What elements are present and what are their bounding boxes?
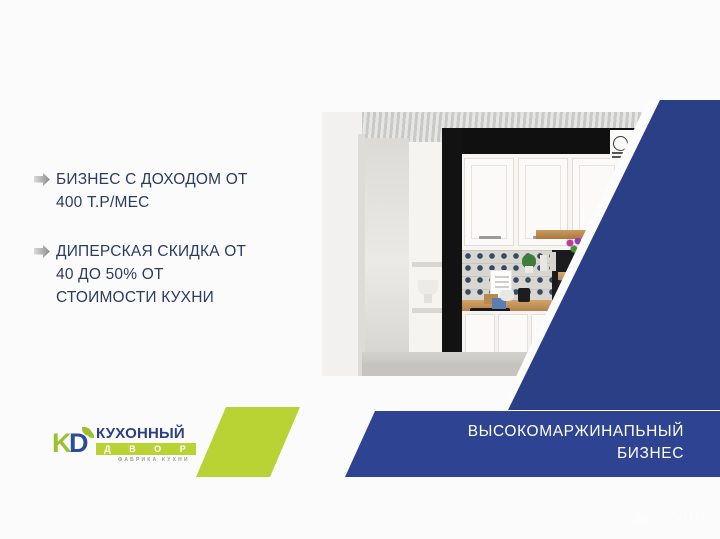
promo-slide: БИЗНЕС С ДОХОДОМ ОТ 400 Т.Р/МЕС ДИПЕРСКА… bbox=[0, 0, 720, 539]
photo-bar-leg bbox=[638, 280, 647, 338]
logo-letter-k: K bbox=[52, 428, 71, 458]
photo-kettle bbox=[500, 290, 514, 301]
logo-dvor-letter: О bbox=[154, 444, 163, 454]
photo-coffee-machine bbox=[518, 288, 530, 302]
list-item: ДИПЕРСКАЯ СКИДКА ОТ 40 ДО 50% ОТ СТОИМОС… bbox=[34, 240, 306, 309]
photo-cabinet-door bbox=[464, 158, 514, 246]
photo-poster-text bbox=[612, 152, 628, 154]
photo-jar bbox=[596, 258, 605, 272]
photo-cutting-board bbox=[610, 252, 614, 272]
list-item: БИЗНЕС С ДОХОДОМ ОТ 400 Т.Р/МЕС bbox=[34, 168, 306, 214]
arrow-bullet-icon bbox=[34, 173, 50, 186]
brand-logo[interactable]: K D КУХОННЫЙ Д В О Р ФАБРИКА КУХНИ bbox=[52, 424, 198, 468]
photo-vase bbox=[574, 250, 581, 272]
photo-doorway-wall bbox=[322, 112, 362, 376]
logo-monogram: K D bbox=[52, 428, 92, 458]
photo-back-room bbox=[365, 138, 409, 363]
photo-plant-pot bbox=[525, 266, 533, 273]
photo-wall-poster bbox=[610, 130, 647, 164]
photo-floor-front bbox=[362, 363, 647, 376]
arrow-bullet-icon bbox=[34, 245, 50, 258]
photo-back-shelf bbox=[412, 262, 444, 267]
photo-jar bbox=[540, 255, 547, 271]
bottom-blue-banner: ВЫСОКОМАРЖИНАПЬНЫЙ БИЗНЕС bbox=[345, 411, 720, 477]
photo-black-column bbox=[442, 128, 462, 376]
banner-headline: ВЫСОКОМАРЖИНАПЬНЫЙ БИЗНЕС bbox=[468, 421, 684, 465]
logo-dvor-letter: Д bbox=[104, 444, 112, 454]
avito-watermark: Avito bbox=[635, 504, 706, 527]
benefits-list: БИЗНЕС С ДОХОДОМ ОТ 400 Т.Р/МЕС ДИПЕРСКА… bbox=[34, 168, 306, 335]
photo-door-frame bbox=[358, 134, 365, 376]
photo-wood-shelf bbox=[536, 230, 647, 239]
list-item-text: БИЗНЕС С ДОХОДОМ ОТ 400 Т.Р/МЕС bbox=[56, 168, 248, 214]
green-parallelogram bbox=[196, 407, 300, 477]
logo-dvor-letter: Р bbox=[180, 444, 188, 454]
photo-glass-pane bbox=[631, 187, 644, 219]
photo-poster-badge-icon bbox=[613, 136, 628, 151]
photo-poster-badge-icon bbox=[629, 136, 644, 151]
list-item-text: ДИПЕРСКАЯ СКИДКА ОТ 40 ДО 50% ОТ СТОИМОС… bbox=[56, 240, 246, 309]
avito-dots-icon bbox=[635, 508, 655, 524]
logo-wordmark: КУХОННЫЙ bbox=[96, 426, 185, 442]
photo-back-object bbox=[418, 280, 438, 296]
kitchen-photo bbox=[322, 112, 647, 376]
photo-cabinet-handle bbox=[479, 236, 501, 239]
photo-flowers bbox=[566, 238, 590, 253]
logo-dvor-letter: В bbox=[129, 444, 138, 454]
logo-tagline: ФАБРИКА КУХНИ bbox=[118, 457, 190, 463]
photo-jar bbox=[550, 252, 556, 271]
photo-back-shelf bbox=[412, 308, 444, 313]
logo-dvor-bar: Д В О Р bbox=[96, 443, 196, 455]
avito-wordmark: Avito bbox=[659, 504, 706, 527]
